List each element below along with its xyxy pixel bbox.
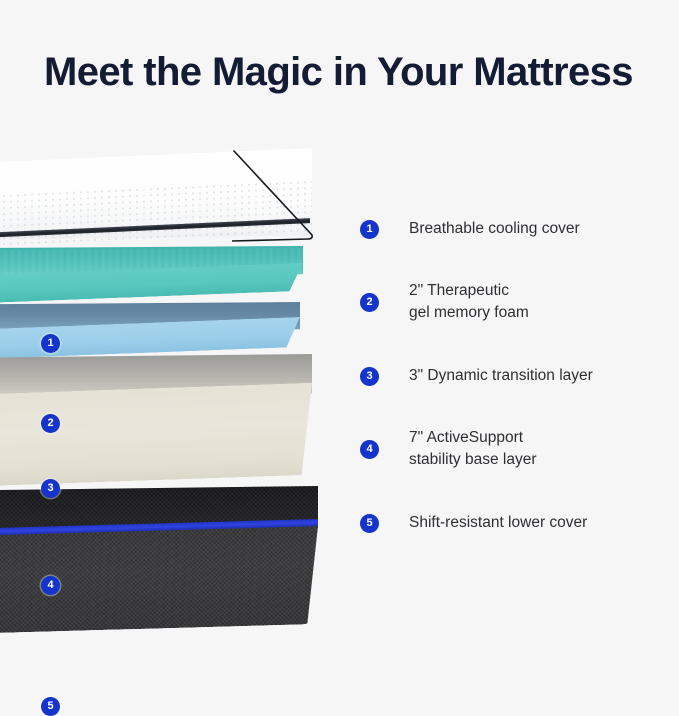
legend-item-1: 1 Breathable cooling cover: [360, 218, 660, 240]
diagram-badge-1: 1: [41, 334, 60, 353]
infographic-page: Meet the Magic in Your Mattress: [0, 0, 679, 679]
diagram-badge-5: 5: [41, 697, 60, 716]
legend-label-2: 2" Therapeutic gel memory foam: [409, 280, 529, 324]
legend-label-3: 3" Dynamic transition layer: [409, 365, 593, 387]
mattress-layer-2-gel-memory-foam: [0, 246, 302, 306]
legend-item-2: 2 2" Therapeutic gel memory foam: [360, 280, 660, 324]
legend-badge-1: 1: [360, 220, 379, 239]
legend-label-4: 7" ActiveSupport stability base layer: [409, 427, 537, 471]
legend-badge-2: 2: [360, 293, 379, 312]
page-title: Meet the Magic in Your Mattress: [44, 47, 644, 97]
legend-item-3: 3 3" Dynamic transition layer: [360, 365, 660, 387]
diagram-badge-2: 2: [41, 414, 60, 433]
diagram-badge-3: 3: [41, 479, 60, 498]
base-foam-front-face: [0, 383, 312, 487]
legend-badge-5: 5: [360, 514, 379, 533]
legend-label-1: Breathable cooling cover: [409, 218, 580, 240]
cover-corner-outline-icon: [232, 149, 314, 242]
legend-item-5: 5 Shift-resistant lower cover: [360, 512, 660, 534]
legend-badge-3: 3: [360, 367, 379, 386]
legend-item-4: 4 7" ActiveSupport stability base layer: [360, 427, 660, 471]
diagram-badge-4: 4: [41, 576, 60, 595]
legend-badge-4: 4: [360, 440, 379, 459]
mattress-layer-diagram: 1 2 3 4 5: [0, 148, 340, 628]
mattress-layer-1-breathable-cooling-cover: [0, 148, 312, 248]
legend-label-5: Shift-resistant lower cover: [409, 512, 587, 534]
mattress-layer-5-shift-resistant-lower-cover: [0, 486, 318, 634]
